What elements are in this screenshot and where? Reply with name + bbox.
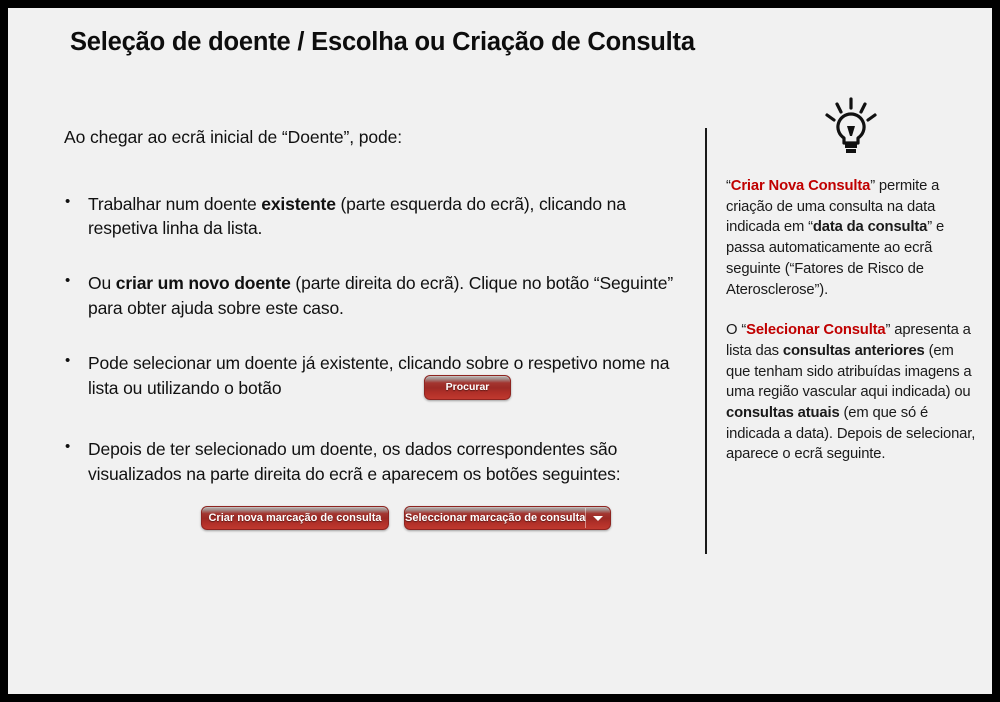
lightbulb-icon — [820, 96, 882, 158]
sidebar-bold-consultas-atuais: consultas atuais — [726, 405, 840, 421]
procurar-button[interactable]: Procurar — [424, 375, 511, 400]
bullet-marker-icon: • — [65, 191, 70, 212]
bullet-text-pre: Depois de ter selecionado um doente, os … — [88, 439, 620, 484]
bullet-text-pre: Ou — [88, 273, 116, 293]
page-title: Seleção de doente / Escolha ou Criação d… — [70, 28, 870, 57]
bullet-item-new-patient: • Ou criar um novo doente (parte direita… — [56, 271, 696, 321]
column-divider — [705, 128, 707, 554]
sidebar-text-lead: O — [726, 322, 741, 338]
bullet-item-existing-patient: • Trabalhar num doente existente (parte … — [56, 192, 696, 242]
bullet-text-pre: Pode selecionar um doente já existente, … — [88, 353, 669, 398]
tips-sidebar: “Criar Nova Consulta” permite a criação … — [726, 176, 976, 465]
bullet-item-select-patient: • Pode selecionar um doente já existente… — [56, 351, 696, 401]
bullet-text-pre: Trabalhar num doente — [88, 194, 261, 214]
caret-down-icon[interactable] — [593, 516, 603, 521]
sidebar-paragraph-selecionar-consulta: O “Selecionar Consulta” apresenta a list… — [726, 320, 976, 465]
bullet-marker-icon: • — [65, 436, 70, 457]
criar-nova-marcacao-button[interactable]: Criar nova marcação de consulta — [201, 506, 389, 530]
bullet-item-after-selection: • Depois de ter selecionado um doente, o… — [56, 437, 696, 487]
button-divider — [585, 508, 586, 528]
intro-text: Ao chegar ao ecrã inicial de “Doente”, p… — [64, 126, 696, 150]
sidebar-paragraph-criar-nova-consulta: “Criar Nova Consulta” permite a criação … — [726, 176, 976, 300]
bullet-text-bold: criar um novo doente — [116, 273, 291, 293]
bullet-marker-icon: • — [65, 350, 70, 371]
slide-canvas: Seleção de doente / Escolha ou Criação d… — [8, 8, 992, 694]
seleccionar-marcacao-button[interactable]: Seleccionar marcação de consulta — [404, 506, 611, 530]
sidebar-bold-data-da-consulta: data da consulta — [813, 219, 927, 235]
highlight-criar-nova-consulta: Criar Nova Consulta — [731, 178, 870, 194]
bullet-marker-icon: • — [65, 270, 70, 291]
highlight-selecionar-consulta: Selecionar Consulta — [746, 322, 885, 338]
seleccionar-marcacao-label: Seleccionar marcação de consulta — [405, 512, 585, 524]
left-content-column: Ao chegar ao ecrã inicial de “Doente”, p… — [56, 126, 696, 486]
sidebar-bold-consultas-anteriores: consultas anteriores — [783, 343, 925, 359]
bullet-text-bold: existente — [261, 194, 336, 214]
